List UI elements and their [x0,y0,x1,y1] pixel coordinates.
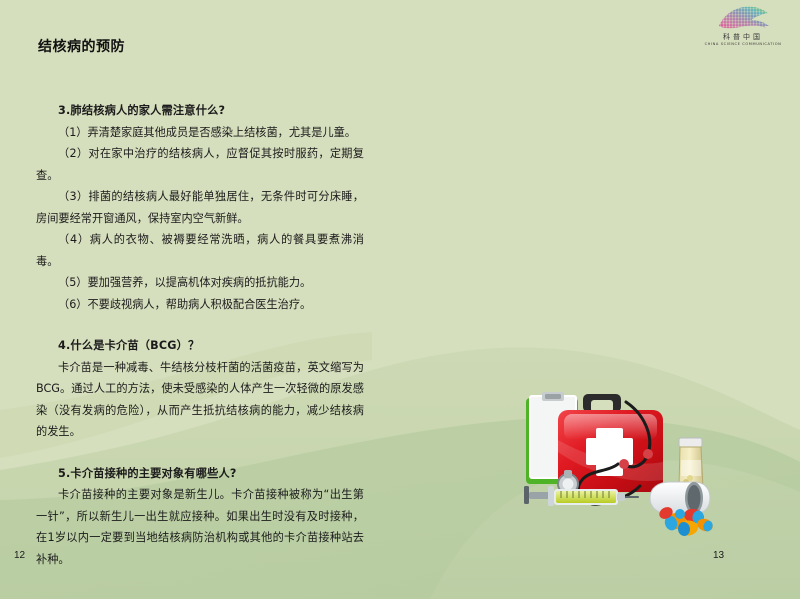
question-3: 3.肺结核病人的家人需注意什么? [36,100,364,122]
answer-4: 卡介苗是一种减毒、牛结核分枝杆菌的活菌疫苗，英文缩写为BCG。通过人工的方法，使… [36,357,364,443]
answer-3-3: （3）排菌的结核病人最好能单独居住，无条件时可分床睡，房间要经常开窗通风，保持室… [36,186,364,229]
page-title-left: 结核病的预防 [38,36,125,56]
kit-handle-icon [583,394,621,412]
page-number-left: 12 [14,550,25,561]
answer-3-2: （2）对在家中治疗的结核病人，应督促其按时服药，定期复查。 [36,143,364,186]
answer-3-6: （6）不要歧视病人，帮助病人积极配合医生治疗。 [36,294,364,316]
left-page-body: 3.肺结核病人的家人需注意什么? （1）弄清楚家庭其他成员是否感染上结核菌，尤其… [36,100,364,570]
medical-first-aid-illustration [498,392,760,544]
question-4: 4.什么是卡介苗（BCG）？ [36,335,364,357]
left-page: 结核病的预防 3.肺结核病人的家人需注意什么? （1）弄清楚家庭其他成员是否感染… [0,0,400,599]
question-5: 5.卡介苗接种的主要对象有哪些人? [36,463,364,485]
answer-5: 卡介苗接种的主要对象是新生儿。卡介苗接种被称为“出生第一针”，所以新生儿一出生就… [36,484,364,570]
brochure-page: 科普中国 CHINA SCIENCE COMMUNICATION 结核病的预防 … [0,0,800,599]
answer-3-5: （5）要加强营养，以提高机体对疾病的抵抗能力。 [36,272,364,294]
answer-3-4: （4）病人的衣物、被褥要经常洗晒，病人的餐具要煮沸消毒。 [36,229,364,272]
answer-3-1: （1）弄清楚家庭其他成员是否感染上结核菌，尤其是儿童。 [36,122,364,144]
page-number-right: 13 [713,550,724,561]
